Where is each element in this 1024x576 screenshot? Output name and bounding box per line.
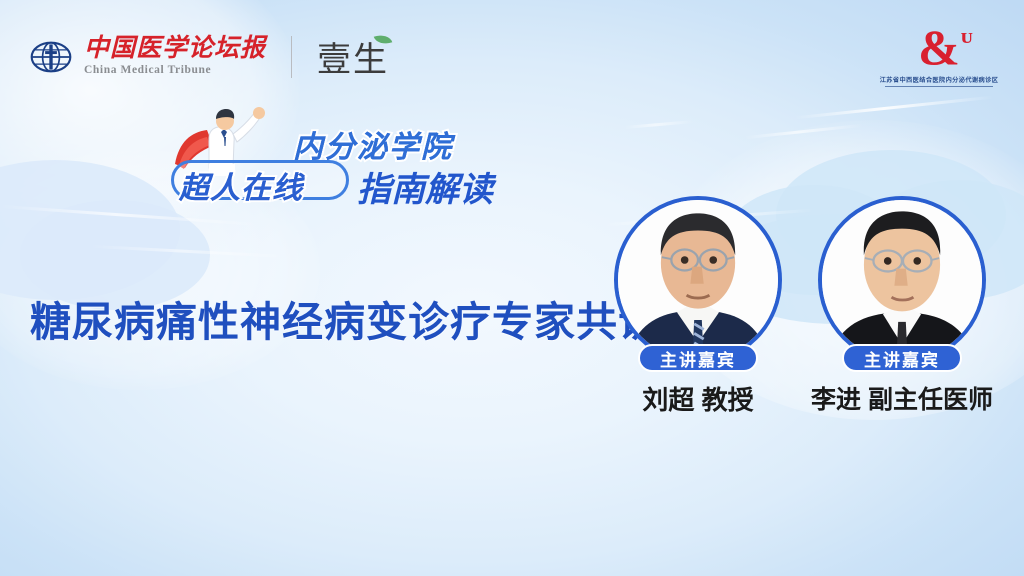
speaker-portrait-icon xyxy=(822,200,982,360)
partner-hospital-name: 江苏省中西医结合医院内分泌代谢病诊区 xyxy=(874,75,1004,84)
speaker-card: 主讲嘉宾 李进 副主任医师 xyxy=(804,196,1000,417)
avatar xyxy=(818,196,986,364)
partner-underline xyxy=(885,86,993,87)
speaker-list: 主讲嘉宾 刘超 教授 xyxy=(600,196,1010,417)
speaker-name: 刘超 教授 xyxy=(600,380,796,417)
publisher-name-block: 中国医学论坛报 China Medical Tribune xyxy=(84,36,266,77)
status-badge-label: 主讲嘉宾 xyxy=(864,346,940,371)
page-title: 糖尿病痛性神经病变诊疗专家共识 xyxy=(30,288,660,348)
status-badge: 主讲嘉宾 xyxy=(638,344,758,372)
status-badge: 主讲嘉宾 xyxy=(842,344,962,372)
background-streak-2 xyxy=(744,124,864,140)
background-streak-4 xyxy=(624,120,694,129)
status-badge-label: 主讲嘉宾 xyxy=(660,346,736,371)
sub-brand-name: 壹生 xyxy=(317,42,389,79)
speaker-name: 李进 副主任医师 xyxy=(804,380,1000,416)
partner-logo: & ᴜ 江苏省中西医结合医院内分泌代谢病诊区 xyxy=(874,24,1004,87)
publisher-logo: 中国医学论坛报 China Medical Tribune 壹生 xyxy=(30,32,389,81)
logo-divider xyxy=(291,36,292,78)
ampersand-mark: & ᴜ xyxy=(918,24,960,72)
globe-medical-icon xyxy=(30,36,72,78)
guide-line-label: 指南解读 xyxy=(357,162,493,211)
avatar xyxy=(614,196,782,364)
publisher-name-cn: 中国医学论坛报 xyxy=(84,36,266,61)
publisher-name-en: China Medical Tribune xyxy=(84,65,266,77)
sub-brand-wrap: 壹生 xyxy=(317,32,389,81)
background-streak-1 xyxy=(794,96,993,120)
program-banner: 内分泌学院 内分泌学院 超人在线 超人在线 指南解读 xyxy=(165,108,505,212)
ampersand-glyph: & xyxy=(918,19,960,75)
program-badge-label: 超人在线 xyxy=(179,163,303,207)
speaker-card: 主讲嘉宾 刘超 教授 xyxy=(600,196,796,417)
speaker-portrait-icon xyxy=(618,200,778,360)
slide-canvas: 中国医学论坛报 China Medical Tribune 壹生 & ᴜ 江苏省… xyxy=(0,0,1024,576)
ampersand-tick-icon: ᴜ xyxy=(961,26,973,47)
